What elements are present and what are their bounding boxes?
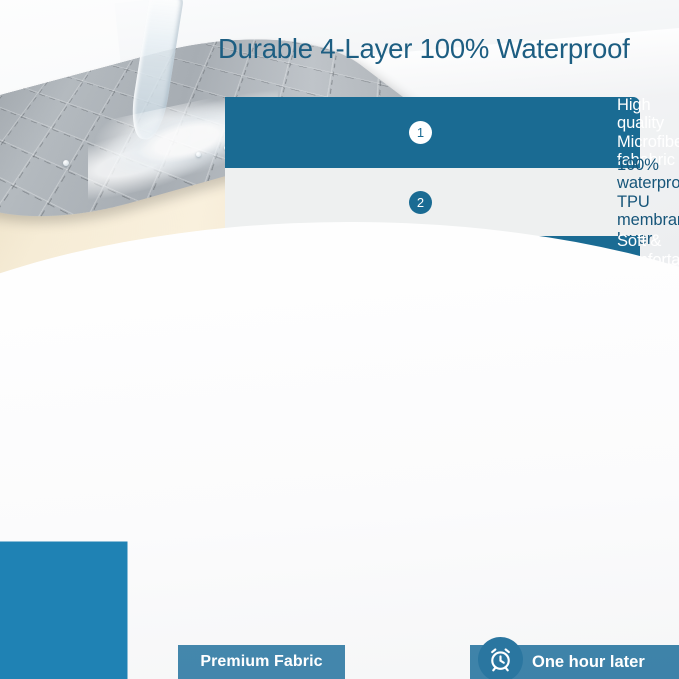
water-bead — [420, 531, 429, 539]
water-bead — [566, 498, 576, 507]
premium-fabric-label: Premium Fabric — [178, 645, 345, 679]
water-bead — [538, 596, 548, 605]
water-droplet — [196, 152, 201, 157]
alarm-clock-icon — [478, 637, 523, 679]
water-bead — [372, 608, 385, 620]
one-hour-later-label-text: One hour later — [532, 653, 645, 672]
water-bead — [472, 476, 480, 484]
alarm-clock-glyph — [487, 646, 514, 673]
water-bead — [558, 572, 577, 590]
feature-list: 1 High quality Microfiber fababric 2 100… — [225, 97, 640, 371]
water-bead — [662, 528, 674, 539]
water-bead — [502, 568, 512, 577]
water-bead — [548, 610, 561, 622]
water-bead — [427, 510, 443, 530]
water-bead — [488, 530, 497, 538]
premium-fabric-label-text: Premium Fabric — [200, 653, 322, 671]
feature-number-badge: 2 — [409, 191, 432, 214]
feature-row-1[interactable]: 1 High quality Microfiber fababric — [225, 97, 640, 168]
water-bead — [522, 516, 530, 524]
infographic-root: Durable 4-Layer 100% Waterproof 1 High q… — [0, 0, 679, 679]
water-bead — [642, 556, 651, 565]
page-title: Durable 4-Layer 100% Waterproof — [218, 33, 658, 65]
water-stream — [127, 0, 184, 141]
feature-number-badge: 1 — [409, 121, 432, 144]
feature-row-2[interactable]: 2 100% waterproof TPU membrane layer — [225, 168, 640, 236]
water-bead — [438, 480, 461, 502]
water-bead — [396, 578, 404, 586]
water-bead — [422, 650, 436, 662]
panel-divider — [345, 468, 352, 679]
water-droplet — [63, 160, 69, 166]
water-bead — [380, 484, 407, 509]
water-bead — [400, 530, 411, 540]
feature-row-3[interactable]: 3 Soft & comfortable Textiles Fiber Fill… — [225, 236, 640, 302]
water-bead — [360, 538, 374, 551]
feature-label: Large particle non-slip design — [617, 290, 669, 382]
water-bead — [592, 584, 616, 606]
feature-list-underline — [225, 366, 640, 367]
water-bead — [460, 590, 472, 601]
water-bead — [390, 624, 399, 632]
feature-number-badge: 4 — [409, 325, 432, 348]
feature-row-4[interactable]: 4 Large particle non-slip design — [225, 302, 640, 371]
water-bead — [648, 610, 656, 618]
feature-number-badge: 3 — [409, 258, 432, 281]
water-bead — [380, 546, 407, 569]
